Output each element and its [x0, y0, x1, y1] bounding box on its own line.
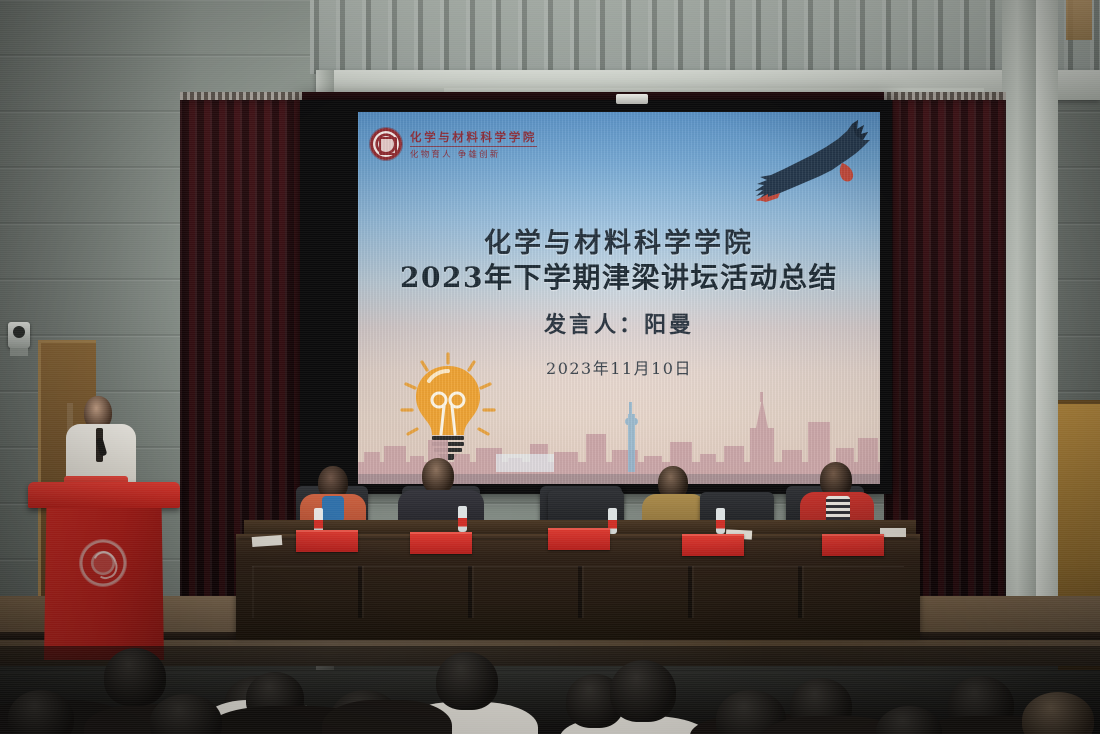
- university-seal-icon: [370, 128, 402, 160]
- slide-logo-motto: 化物育人 争雄创新: [410, 148, 537, 160]
- slide-logo-text: 化学与材料科学学院 化物育人 争雄创新: [410, 129, 537, 160]
- slat-warm-accent: [1066, 0, 1092, 40]
- curtain-rail-right: [884, 92, 1006, 100]
- projector-lens-icon: [616, 94, 648, 104]
- panelist-head: [422, 458, 454, 494]
- university-crest-icon: [80, 540, 126, 586]
- name-card[interactable]: [822, 534, 884, 556]
- audience-head: [436, 652, 498, 710]
- panelist-scarf: [322, 496, 344, 522]
- auditorium-scene: 化学与材料科学学院 化物育人 争雄创新 化学与材料科学学院 2023年下学期津梁…: [0, 0, 1100, 734]
- audience-head: [610, 660, 676, 722]
- name-card[interactable]: [548, 528, 610, 550]
- slide-logo-divider: [410, 146, 537, 147]
- slide-logo-block: 化学与材料科学学院 化物育人 争雄创新: [370, 128, 537, 160]
- slide-speaker-line: 发言人：阳曼: [358, 307, 880, 339]
- slide-title-line1: 化学与材料科学学院: [358, 228, 880, 260]
- slide-logo-college-name: 化学与材料科学学院: [410, 129, 537, 145]
- audience-shoulders: [322, 700, 452, 734]
- right-wall-column: [1002, 0, 1036, 660]
- wall-camera-icon: [8, 322, 30, 348]
- document-paper[interactable]: [252, 535, 283, 547]
- name-card[interactable]: [682, 534, 744, 556]
- ceiling-slat-band: [310, 0, 1100, 74]
- table-front-panels: [252, 566, 904, 618]
- slide-title-line2: 2023年下学期津梁讲坛活动总结: [358, 260, 880, 295]
- curtain-rail-left: [180, 92, 302, 100]
- audience-head: [104, 648, 166, 706]
- flying-eagle-icon: [754, 118, 874, 228]
- presentation-slide[interactable]: 化学与材料科学学院 化物育人 争雄创新 化学与材料科学学院 2023年下学期津梁…: [358, 112, 880, 484]
- water-bottle[interactable]: [716, 508, 725, 534]
- right-wall-column-outer: [1036, 0, 1058, 660]
- podium-top: [28, 482, 180, 508]
- name-card[interactable]: [296, 530, 358, 552]
- water-bottle[interactable]: [458, 506, 467, 532]
- name-card[interactable]: [410, 532, 472, 554]
